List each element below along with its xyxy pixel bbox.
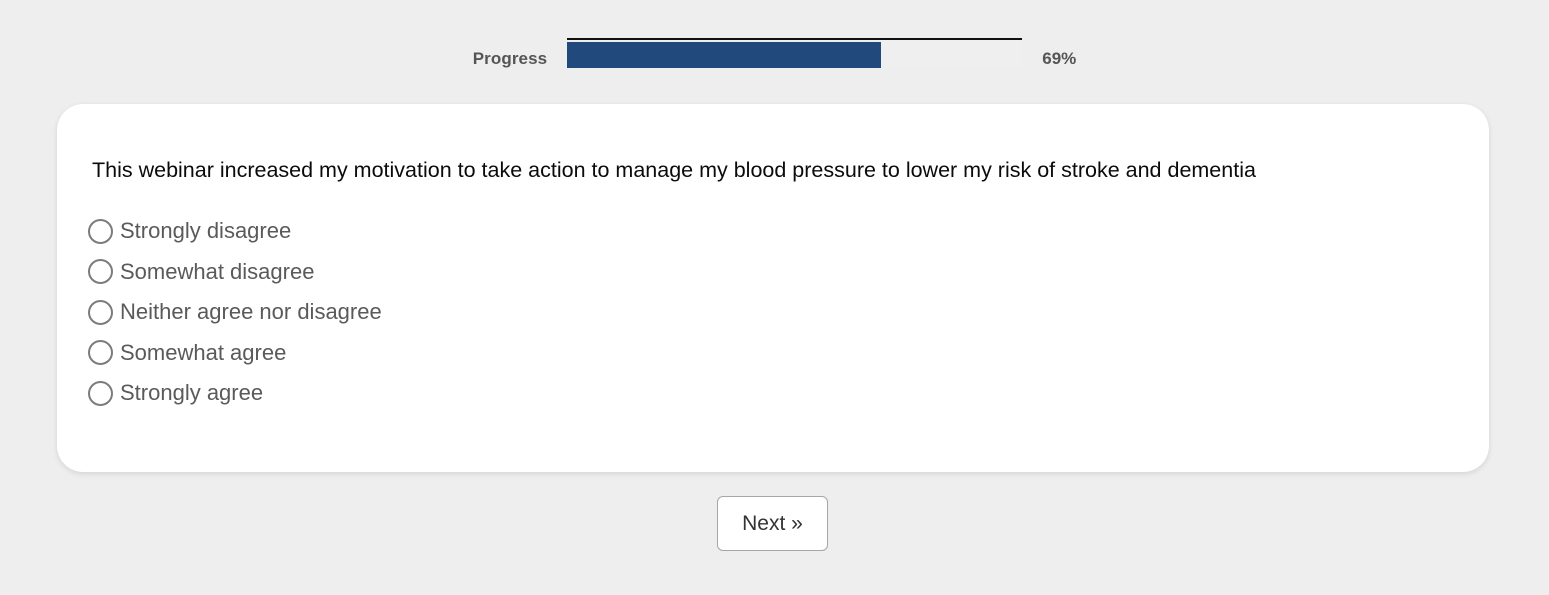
radio-circle-icon[interactable] [88, 259, 113, 284]
radio-option-somewhat-agree[interactable]: Somewhat agree [88, 333, 382, 374]
radio-option-label: Somewhat disagree [120, 261, 314, 283]
radio-option-label: Somewhat agree [120, 342, 286, 364]
radio-option-neither-agree-nor-disagree[interactable]: Neither agree nor disagree [88, 292, 382, 333]
question-card: This webinar increased my motivation to … [57, 104, 1489, 472]
radio-group: Strongly disagree Somewhat disagree Neit… [88, 211, 382, 414]
radio-option-label: Strongly agree [120, 382, 263, 404]
question-text: This webinar increased my motivation to … [92, 158, 1256, 184]
progress-percent-text: 69% [1042, 36, 1076, 67]
radio-circle-icon[interactable] [88, 340, 113, 365]
radio-circle-icon[interactable] [88, 219, 113, 244]
radio-option-label: Neither agree nor disagree [120, 301, 382, 323]
radio-circle-icon[interactable] [88, 300, 113, 325]
radio-option-strongly-disagree[interactable]: Strongly disagree [88, 211, 382, 252]
radio-option-somewhat-disagree[interactable]: Somewhat disagree [88, 252, 382, 293]
progress-fill [567, 42, 881, 68]
progress-bar-row: Progress 69% [0, 36, 1549, 80]
radio-circle-icon[interactable] [88, 381, 113, 406]
radio-option-label: Strongly disagree [120, 220, 291, 242]
progress-track [567, 38, 1022, 68]
next-button[interactable]: Next » [717, 496, 828, 551]
radio-option-strongly-agree[interactable]: Strongly agree [88, 373, 382, 414]
progress-label: Progress [473, 36, 548, 67]
